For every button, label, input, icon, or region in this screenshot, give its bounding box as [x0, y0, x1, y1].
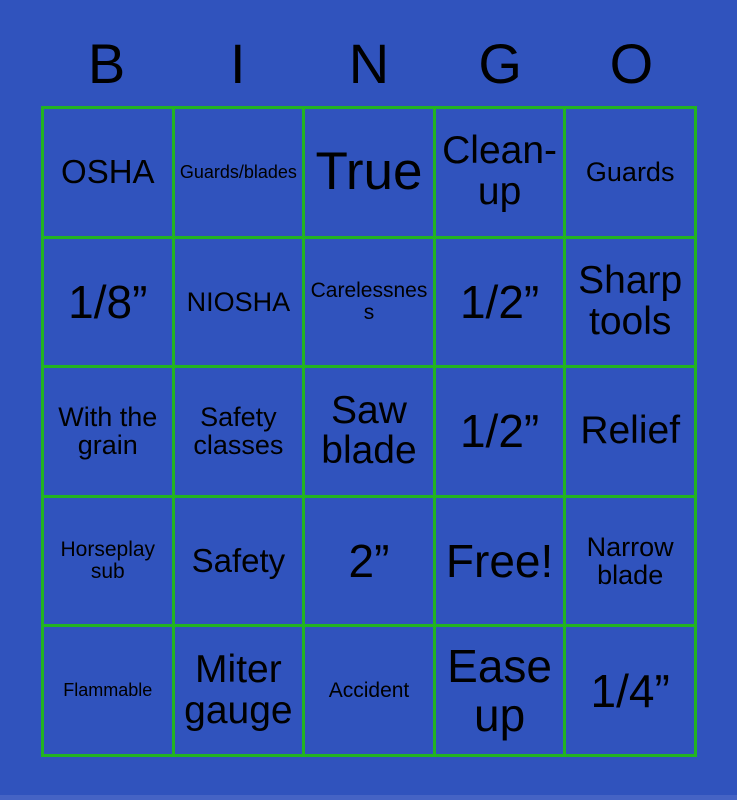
bingo-cell-r4c3[interactable]: 2”: [305, 498, 433, 625]
bingo-cell-r5c4[interactable]: Ease up: [436, 627, 564, 754]
bingo-cell-r2c1[interactable]: 1/8”: [44, 239, 172, 366]
bingo-cell-r3c5[interactable]: Relief: [566, 368, 694, 495]
bingo-cell-r5c3[interactable]: Accident: [305, 627, 433, 754]
bingo-cell-r3c4[interactable]: 1/2”: [436, 368, 564, 495]
bingo-header-letter-b: B: [41, 26, 172, 102]
bingo-cell-free[interactable]: Free!: [436, 498, 564, 625]
bingo-header-row: B I N G O: [41, 26, 697, 102]
bingo-cell-r3c3[interactable]: Saw blade: [305, 368, 433, 495]
bingo-cell-r1c2[interactable]: Guards/blades: [175, 109, 303, 236]
bingo-cell-r5c1[interactable]: Flammable: [44, 627, 172, 754]
bingo-header-letter-n: N: [303, 26, 434, 102]
bingo-cell-r4c2[interactable]: Safety: [175, 498, 303, 625]
bingo-cell-r4c1[interactable]: Horseplay sub: [44, 498, 172, 625]
bingo-cell-r2c2[interactable]: NIOSHA: [175, 239, 303, 366]
bingo-cell-r1c3[interactable]: True: [305, 109, 433, 236]
bingo-cell-r1c1[interactable]: OSHA: [44, 109, 172, 236]
bingo-grid: OSHA Guards/blades True Clean-up Guards …: [41, 106, 697, 757]
bingo-cell-r1c5[interactable]: Guards: [566, 109, 694, 236]
bingo-cell-r5c2[interactable]: Miter gauge: [175, 627, 303, 754]
bingo-card: B I N G O OSHA Guards/blades True Clean-…: [0, 0, 737, 795]
bingo-header-letter-i: I: [172, 26, 303, 102]
bingo-header-letter-o: O: [566, 26, 697, 102]
bottom-edge-strip: [0, 795, 737, 800]
bingo-cell-r3c2[interactable]: Safety classes: [175, 368, 303, 495]
bingo-cell-r2c4[interactable]: 1/2”: [436, 239, 564, 366]
bingo-cell-r3c1[interactable]: With the grain: [44, 368, 172, 495]
bingo-cell-r5c5[interactable]: 1/4”: [566, 627, 694, 754]
bingo-cell-r1c4[interactable]: Clean-up: [436, 109, 564, 236]
bingo-cell-r2c5[interactable]: Sharp tools: [566, 239, 694, 366]
bingo-cell-r4c5[interactable]: Narrow blade: [566, 498, 694, 625]
bingo-cell-r2c3[interactable]: Carelessness: [305, 239, 433, 366]
bingo-header-letter-g: G: [435, 26, 566, 102]
